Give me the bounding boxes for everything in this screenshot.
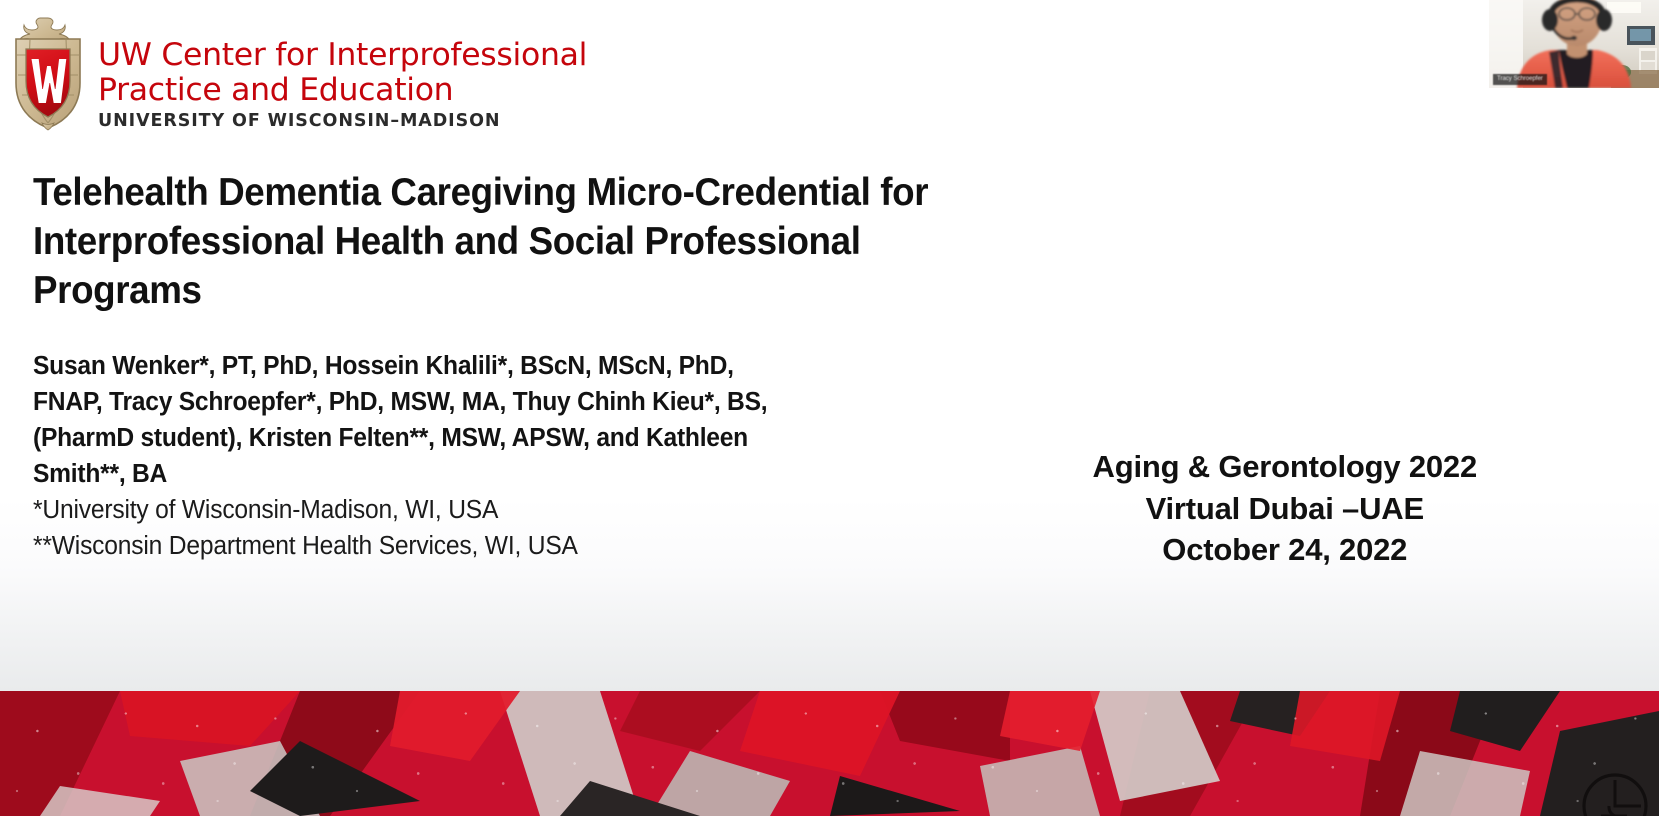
uw-crest-icon bbox=[10, 15, 86, 131]
uw-logo-text: UW Center for Interprofessional Practice… bbox=[98, 14, 587, 132]
logo-line-2: Practice and Education bbox=[98, 73, 587, 108]
presentation-slide: UW Center for Interprofessional Practice… bbox=[0, 0, 1659, 816]
affiliation-secondary: **Wisconsin Department Health Services, … bbox=[33, 528, 786, 564]
logo-line-1: UW Center for Interprofessional bbox=[98, 38, 587, 73]
decorative-footer-band bbox=[0, 691, 1659, 816]
logo-subtitle: UNIVERSITY OF WISCONSIN–MADISON bbox=[98, 110, 587, 132]
circular-emblem-icon bbox=[1579, 770, 1651, 816]
webcam-participant-name: Tracy Schroepfer bbox=[1493, 74, 1547, 85]
conference-name: Aging & Gerontology 2022 bbox=[1093, 446, 1477, 488]
uw-logo-lockup: UW Center for Interprofessional Practice… bbox=[10, 14, 587, 132]
author-block: Susan Wenker*, PT, PhD, Hossein Khalili*… bbox=[33, 348, 813, 564]
conference-date: October 24, 2022 bbox=[1093, 529, 1477, 571]
author-names: Susan Wenker*, PT, PhD, Hossein Khalili*… bbox=[33, 348, 786, 492]
conference-info: Aging & Gerontology 2022 Virtual Dubai –… bbox=[1093, 446, 1477, 571]
conference-location: Virtual Dubai –UAE bbox=[1093, 488, 1477, 530]
affiliation-primary: *University of Wisconsin-Madison, WI, US… bbox=[33, 492, 786, 528]
webcam-video-tile[interactable]: Tracy Schroepfer bbox=[1489, 0, 1659, 88]
page-title: Telehealth Dementia Caregiving Micro-Cre… bbox=[33, 168, 1017, 315]
